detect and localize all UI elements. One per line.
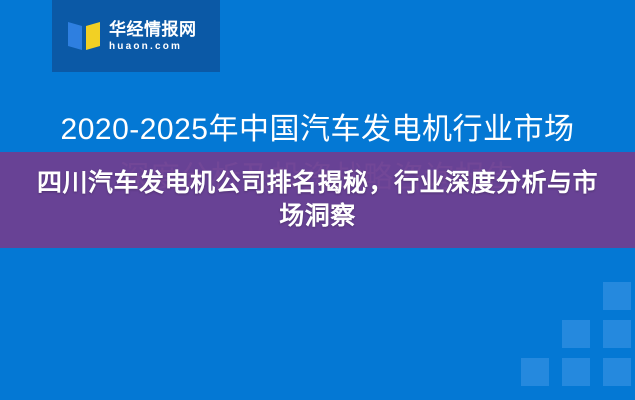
decorative-square: [562, 320, 590, 348]
headline-band: 四川汽车发电机公司排名揭秘，行业深度分析与市场洞察: [0, 152, 635, 248]
decorative-square: [603, 320, 631, 348]
site-logo[interactable]: 华经情报网 huaon.com: [52, 0, 220, 72]
decorative-square: [562, 358, 590, 386]
promo-banner: 深度分析及投资战略咨询报告 华经情报网 huaon.com 2020-2025年…: [0, 0, 635, 400]
decorative-square: [603, 282, 631, 310]
headline-text: 四川汽车发电机公司排名揭秘，行业深度分析与市场洞察: [25, 167, 610, 234]
open-book-logo-icon: [68, 21, 100, 51]
logo-name-cn: 华经情报网: [109, 21, 197, 38]
logo-wordmark: 华经情报网 huaon.com: [109, 21, 197, 52]
logo-name-en: huaon.com: [109, 42, 197, 52]
decorative-square: [603, 358, 631, 386]
decorative-square: [521, 358, 549, 386]
report-title-line1: 2020-2025年中国汽车发电机行业市场: [0, 104, 635, 148]
